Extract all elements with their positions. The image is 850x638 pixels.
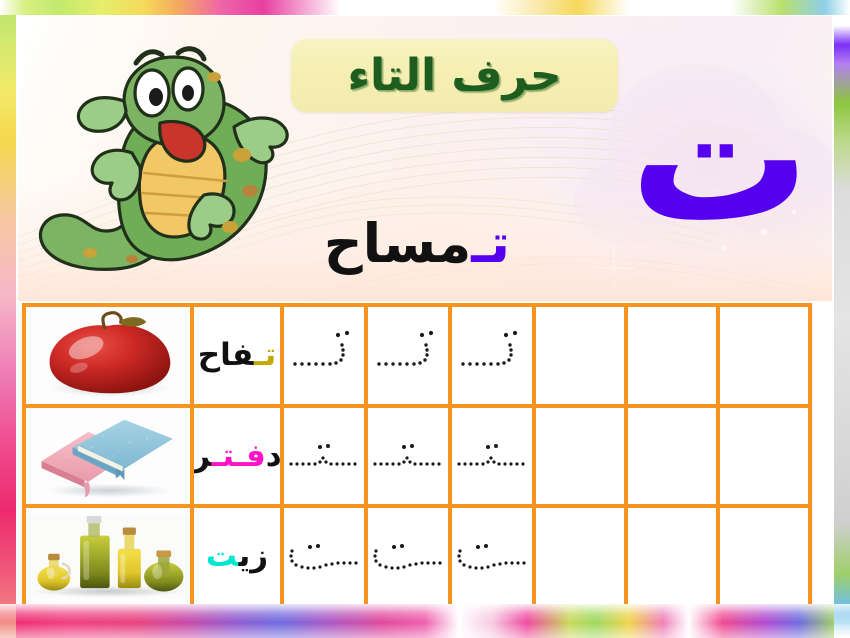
word-highlight: ت	[206, 538, 239, 574]
big-letter-display: ت	[620, 50, 820, 265]
word-cell: دفـتـر	[190, 408, 280, 505]
frame-border-right	[834, 0, 850, 638]
notebooks-photo	[26, 408, 190, 505]
crocodile-icon	[28, 35, 298, 289]
word-label: دفـتـر	[192, 441, 280, 472]
dotted-letter-initial	[289, 326, 359, 384]
trace-cell-medial[interactable]	[448, 408, 532, 505]
word-highlight: فـتـ	[212, 438, 266, 474]
dotted-letter-final	[454, 529, 530, 585]
dotted-letter-medial	[371, 428, 445, 484]
worksheet-page: حرف التاء ت تـمساح	[0, 0, 850, 638]
table-row: دفـتـر	[26, 408, 808, 509]
blank-practice-cell[interactable]	[716, 508, 808, 605]
trace-cell-final[interactable]	[364, 508, 448, 605]
word-before: د	[266, 438, 280, 474]
word-label: تـفاح	[198, 340, 277, 371]
practice-table: تـفاح	[22, 303, 812, 609]
dotted-letter-initial	[457, 326, 527, 384]
trace-cell-initial[interactable]	[364, 307, 448, 404]
dotted-letter-final	[286, 529, 362, 585]
blank-practice-cell[interactable]	[716, 408, 808, 505]
blank-practice-cell[interactable]	[532, 508, 624, 605]
trace-cell-medial[interactable]	[364, 408, 448, 505]
blank-practice-cell[interactable]	[532, 307, 624, 404]
dotted-letter-final	[370, 529, 446, 585]
trace-cell-medial[interactable]	[280, 408, 364, 505]
mascot-word-rest: مساح	[324, 212, 472, 275]
oil-bottles-photo	[26, 508, 190, 605]
picture-cell-apple	[26, 307, 190, 404]
word-cell: تـفاح	[190, 307, 280, 404]
trace-cell-initial[interactable]	[280, 307, 364, 404]
page-title: حرف التاء	[291, 39, 618, 112]
apple-photo	[26, 307, 190, 403]
blank-practice-cell[interactable]	[716, 307, 808, 404]
word-rest: ر	[192, 438, 211, 474]
word-cell: زيت	[190, 508, 280, 605]
dotted-letter-medial	[455, 428, 529, 484]
word-highlight: تـ	[254, 337, 276, 373]
blank-practice-cell[interactable]	[532, 408, 624, 505]
picture-cell-notebooks	[26, 408, 190, 505]
word-before: زي	[239, 538, 269, 574]
trace-cell-final[interactable]	[448, 508, 532, 605]
blank-practice-cell[interactable]	[624, 508, 716, 605]
picture-cell-oil	[26, 508, 190, 605]
word-label: زيت	[206, 541, 268, 572]
table-row: زيت	[26, 508, 808, 605]
blank-practice-cell[interactable]	[624, 408, 716, 505]
mascot-word-highlight: تـ	[471, 212, 510, 275]
frame-border-bottom	[0, 604, 850, 638]
frame-border-left	[0, 0, 16, 638]
blank-practice-cell[interactable]	[624, 307, 716, 404]
dotted-letter-initial	[373, 326, 443, 384]
table-row: تـفاح	[26, 307, 808, 408]
word-rest: فاح	[198, 337, 254, 373]
frame-border-top	[0, 0, 850, 15]
dotted-letter-medial	[287, 428, 361, 484]
trace-cell-final[interactable]	[280, 508, 364, 605]
trace-cell-initial[interactable]	[448, 307, 532, 404]
